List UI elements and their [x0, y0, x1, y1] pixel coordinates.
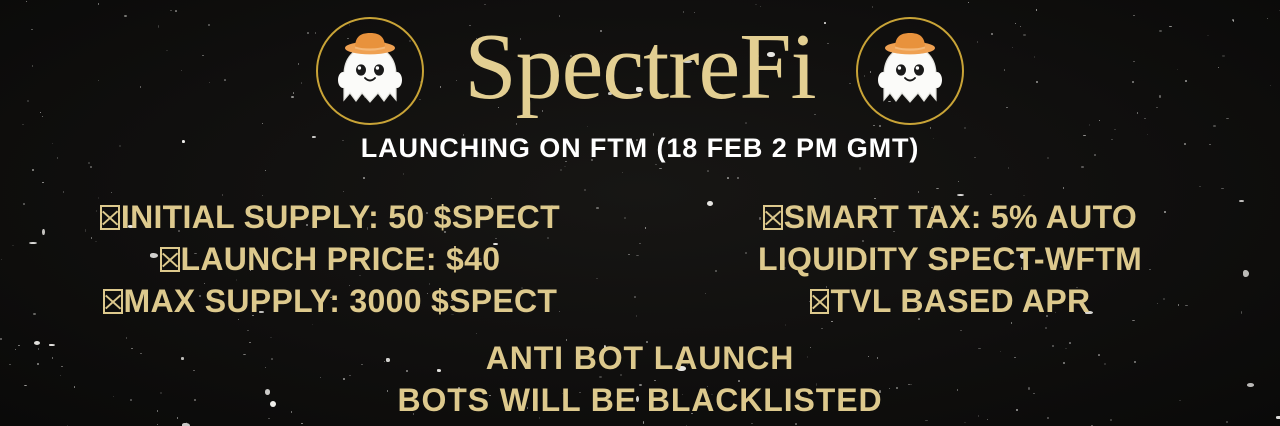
feature-line: TVL BASED APR [640, 280, 1260, 322]
feature-line: MAX SUPPLY: 3000 $SPECT [20, 280, 640, 322]
feature-line: SMART TAX: 5% AUTO [640, 196, 1260, 238]
spectrefi-promo-banner: SpectreFi LAUNCHING ON FTM (18 FEB 2 PM … [0, 0, 1280, 426]
feature-line: LIQUIDITY SPECT-WFTM [640, 238, 1260, 280]
notice-line: ANTI BOT LAUNCH [0, 337, 1280, 379]
feature-column-left: INITIAL SUPPLY: 50 $SPECT LAUNCH PRICE: … [20, 196, 640, 322]
missing-glyph-icon [763, 205, 783, 230]
feature-columns: INITIAL SUPPLY: 50 $SPECT LAUNCH PRICE: … [0, 196, 1280, 322]
ghost-icon [333, 30, 407, 112]
ghost-with-hat-logo-right [856, 17, 964, 125]
launch-subtitle: LAUNCHING ON FTM (18 FEB 2 PM GMT) [0, 133, 1280, 164]
missing-glyph-icon [810, 289, 830, 314]
feature-line: LAUNCH PRICE: $40 [20, 238, 640, 280]
missing-glyph-icon [100, 205, 120, 230]
feature-text: LIQUIDITY SPECT-WFTM [758, 241, 1142, 277]
ghost-with-hat-logo-left [316, 17, 424, 125]
notice-line: BOTS WILL BE BLACKLISTED [0, 379, 1280, 421]
feature-line: INITIAL SUPPLY: 50 $SPECT [20, 196, 640, 238]
anti-bot-notices: ANTI BOT LAUNCH BOTS WILL BE BLACKLISTED [0, 337, 1280, 421]
missing-glyph-icon [160, 247, 180, 272]
feature-text: SMART TAX: 5% AUTO [784, 199, 1137, 235]
feature-column-right: SMART TAX: 5% AUTO LIQUIDITY SPECT-WFTM … [640, 196, 1260, 322]
page-title: SpectreFi [464, 20, 815, 122]
feature-text: MAX SUPPLY: 3000 $SPECT [124, 283, 558, 319]
feature-text: INITIAL SUPPLY: 50 $SPECT [121, 199, 560, 235]
missing-glyph-icon [103, 289, 123, 314]
ghost-icon [873, 30, 947, 112]
feature-text: LAUNCH PRICE: $40 [181, 241, 501, 277]
brand-header: SpectreFi [0, 12, 1280, 130]
feature-text: TVL BASED APR [830, 283, 1090, 319]
